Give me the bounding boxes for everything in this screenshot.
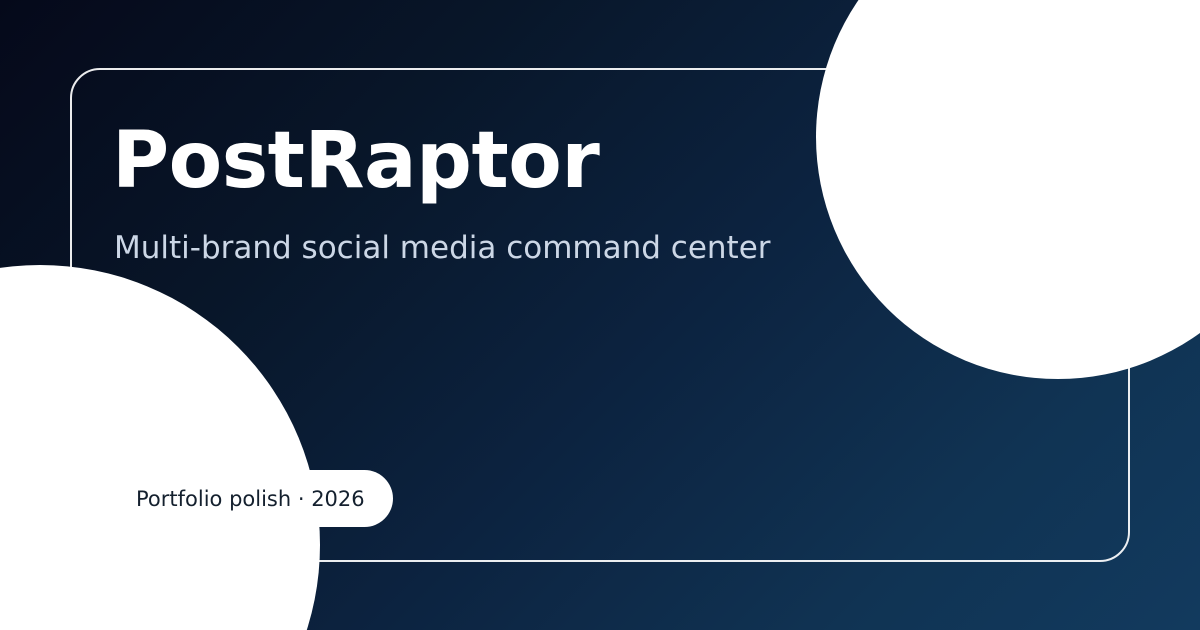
page-title: PostRaptor [112,120,972,203]
page-subtitle: Multi-brand social media command center [114,229,972,268]
status-badge: Portfolio polish · 2026 [96,470,393,527]
card-text-block: PostRaptor Multi-brand social media comm… [112,120,972,267]
social-card: PostRaptor Multi-brand social media comm… [0,0,1200,630]
circle-decoration-bottom-left [0,265,320,630]
